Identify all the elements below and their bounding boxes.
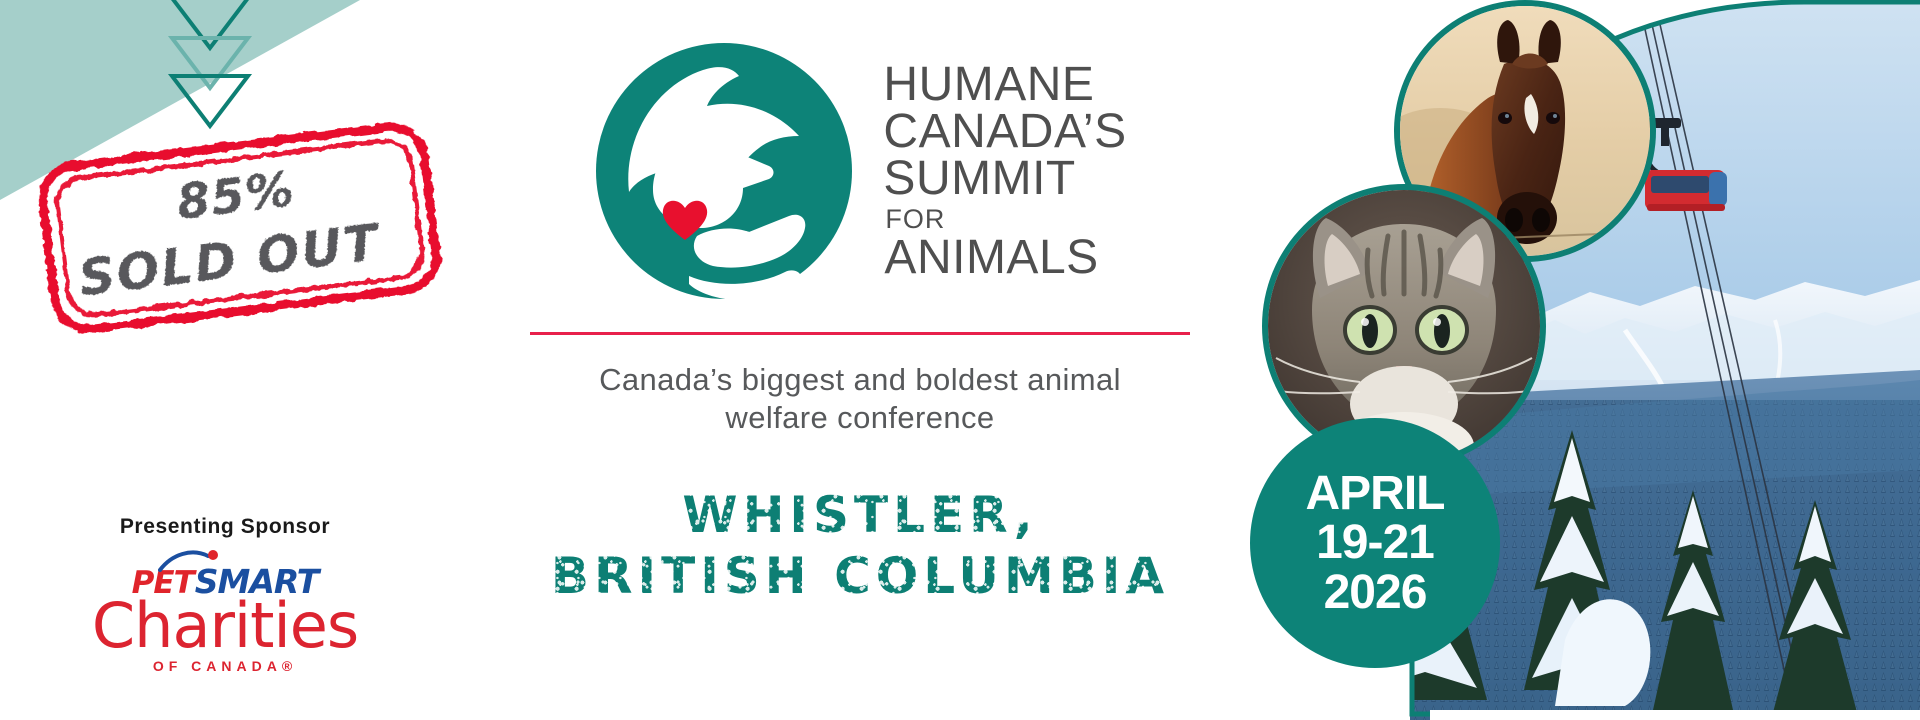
of-canada-text: OF CANADA® — [153, 658, 297, 674]
logo-line-summit: SUMMIT — [883, 155, 1075, 202]
humane-canada-circle-logo-icon — [593, 40, 855, 302]
petsmart-pet-text: PET — [132, 568, 194, 599]
petsmart-swoosh-icon — [158, 550, 224, 572]
event-date-badge: APRIL 19-21 2026 — [1250, 418, 1500, 668]
stacked-chevron-triangles-icon — [150, 0, 270, 131]
event-tagline: Canada’s biggest and boldest animal welf… — [520, 361, 1200, 437]
logo-line-for: FOR — [883, 206, 945, 232]
summit-logo-lockup: HUMANE CANADA’S SUMMIT FOR ANIMALS — [593, 40, 1126, 302]
logo-line-canadas: CANADA’S — [883, 108, 1126, 155]
sold-out-stamp: 85% SOLD OUT — [30, 120, 450, 345]
stamp-percent: 85% — [174, 161, 298, 231]
charities-wordmark: Charities — [92, 597, 358, 654]
location-line-2: BRITISH COLUMBIA — [510, 546, 1210, 607]
petsmart-wordmark: PET SMART — [132, 565, 319, 599]
petsmart-charities-logo: PET SMART Charities OF CANADA® — [92, 565, 358, 674]
red-divider-rule — [530, 332, 1190, 335]
logo-line-humane: HUMANE — [883, 61, 1094, 108]
center-content-column: HUMANE CANADA’S SUMMIT FOR ANIMALS Canad… — [500, 40, 1220, 700]
stamp-status: SOLD OUT — [76, 213, 385, 308]
date-year: 2026 — [1324, 568, 1427, 617]
bottom-white-strip — [1430, 710, 1920, 720]
presenting-sponsor-block: Presenting Sponsor PET SMART Charities O… — [50, 515, 400, 674]
presenting-sponsor-label: Presenting Sponsor — [120, 515, 330, 539]
logo-line-animals: ANIMALS — [883, 234, 1098, 281]
summit-logo-wordmark: HUMANE CANADA’S SUMMIT FOR ANIMALS — [883, 61, 1126, 281]
tagline-line-2: welfare conference — [520, 399, 1200, 437]
summit-promo-banner: 85% SOLD OUT — [0, 0, 1920, 720]
date-month: APRIL — [1306, 469, 1445, 518]
location-line-1: WHISTLER, — [510, 485, 1210, 546]
event-location: WHISTLER, BRITISH COLUMBIA — [510, 485, 1210, 607]
date-days: 19-21 — [1316, 518, 1434, 567]
tagline-line-1: Canada’s biggest and boldest animal — [520, 361, 1200, 399]
